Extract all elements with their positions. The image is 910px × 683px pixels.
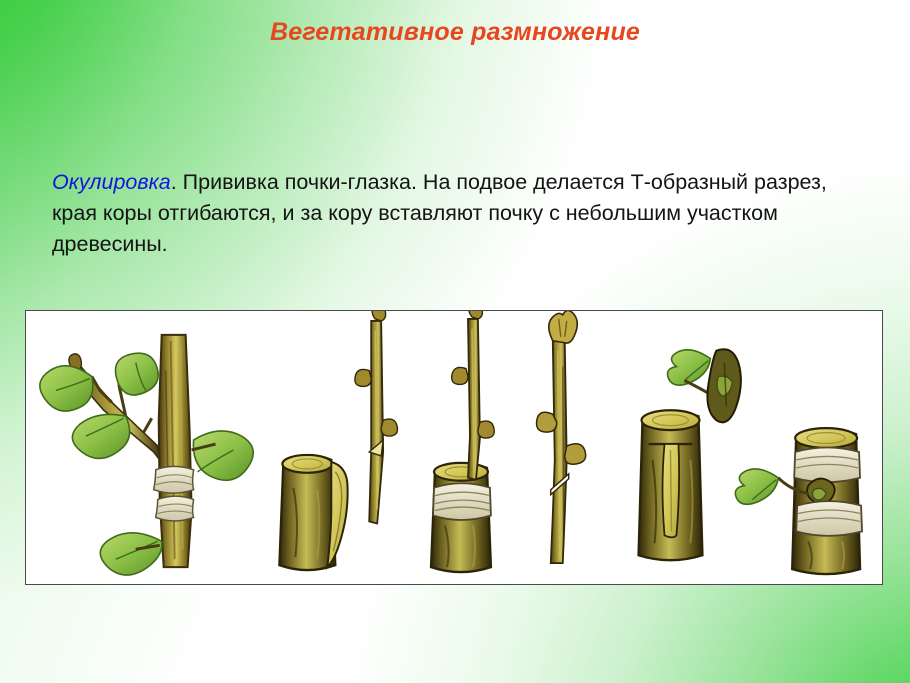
panel-branch-with-bandage — [40, 335, 253, 575]
figure-illustration-frame — [25, 310, 883, 585]
lower-binding — [796, 501, 862, 536]
page-title: Вегетативное размножение — [0, 18, 910, 47]
panel-budwood-twig — [537, 311, 586, 563]
grafting-illustration — [26, 311, 882, 584]
panel-stock-with-t-cut — [639, 410, 703, 560]
panel-stock-with-flap — [279, 311, 397, 570]
body-paragraph: Окулировка. Прививка почки-глазка. На по… — [52, 167, 852, 260]
panel-stock-bound — [431, 311, 494, 572]
panel-bud-inserted-wrapped — [735, 428, 862, 574]
slide-background: Вегетативное размножение Окулировка. При… — [0, 0, 910, 683]
upper-binding — [794, 448, 860, 483]
term-okulirovka: Окулировка — [52, 170, 171, 194]
binding-wrap — [433, 483, 491, 520]
